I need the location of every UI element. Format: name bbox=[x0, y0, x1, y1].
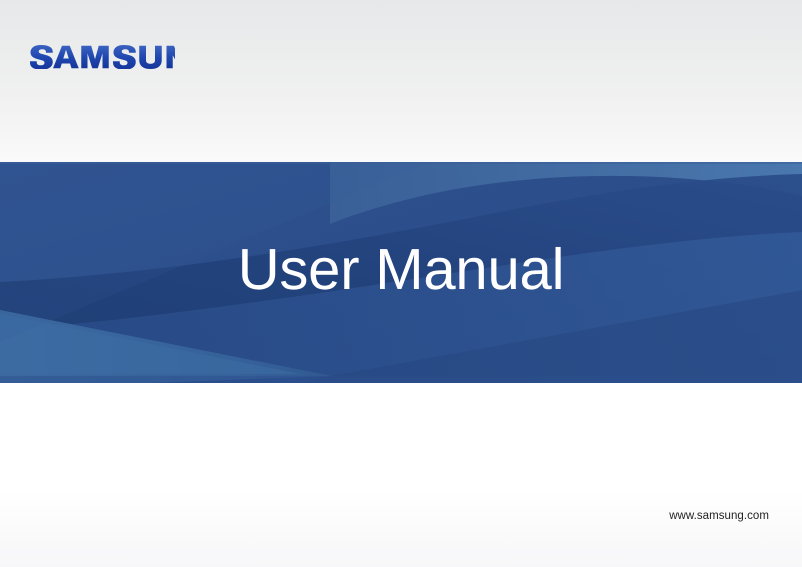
samsung-website-url: www.samsung.com bbox=[669, 510, 769, 522]
cover-banner: User Manual bbox=[0, 162, 802, 383]
user-manual-cover-page: User Manual www.samsung.com bbox=[0, 0, 802, 567]
samsung-wordmark-icon bbox=[30, 44, 175, 70]
page-body-blank bbox=[0, 383, 802, 490]
page-header bbox=[0, 0, 802, 162]
page-footer: www.samsung.com bbox=[0, 490, 802, 567]
page-title: User Manual bbox=[0, 162, 802, 383]
